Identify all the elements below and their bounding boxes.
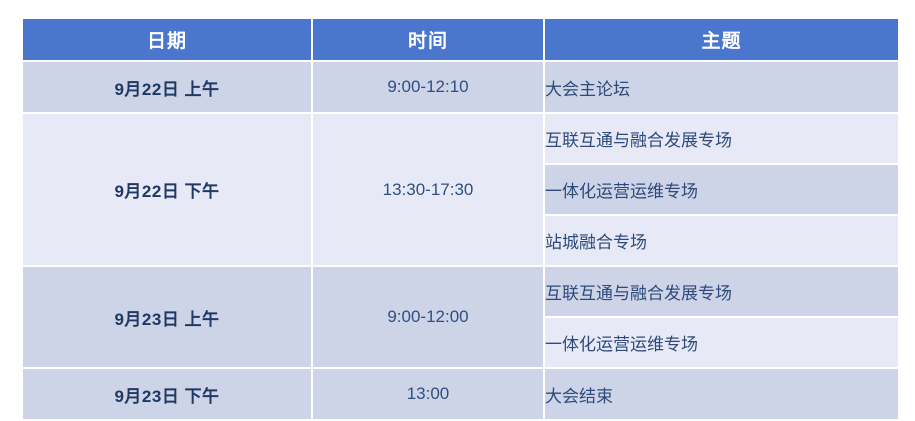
cell-date: 9月22日 上午 bbox=[23, 62, 311, 112]
cell-topic: 互联互通与融合发展专场 bbox=[545, 114, 898, 163]
cell-date: 9月22日 下午 bbox=[23, 114, 311, 265]
schedule-table: 日期 时间 主题 9月22日 上午9:00-12:10大会主论坛9月22日 下午… bbox=[21, 17, 900, 421]
conference-schedule: 日期 时间 主题 9月22日 上午9:00-12:10大会主论坛9月22日 下午… bbox=[21, 17, 896, 421]
header-row: 日期 时间 主题 bbox=[23, 19, 898, 60]
cell-topic: 大会主论坛 bbox=[545, 62, 898, 112]
table-row: 9月23日 下午13:00大会结束 bbox=[23, 369, 898, 419]
table-body: 9月22日 上午9:00-12:10大会主论坛9月22日 下午13:30-17:… bbox=[23, 62, 898, 419]
cell-topic: 一体化运营运维专场 bbox=[545, 165, 898, 214]
cell-date: 9月23日 下午 bbox=[23, 369, 311, 419]
cell-time: 13:00 bbox=[313, 369, 543, 419]
table-header: 日期 时间 主题 bbox=[23, 19, 898, 60]
table-row: 9月23日 上午9:00-12:00互联互通与融合发展专场 bbox=[23, 267, 898, 316]
column-header-topic: 主题 bbox=[545, 19, 898, 60]
cell-date: 9月23日 上午 bbox=[23, 267, 311, 367]
cell-topic: 大会结束 bbox=[545, 369, 898, 419]
column-header-date: 日期 bbox=[23, 19, 311, 60]
table-row: 9月22日 上午9:00-12:10大会主论坛 bbox=[23, 62, 898, 112]
cell-time: 9:00-12:00 bbox=[313, 267, 543, 367]
cell-topic: 一体化运营运维专场 bbox=[545, 318, 898, 367]
cell-time: 9:00-12:10 bbox=[313, 62, 543, 112]
cell-time: 13:30-17:30 bbox=[313, 114, 543, 265]
cell-topic: 互联互通与融合发展专场 bbox=[545, 267, 898, 316]
column-header-time: 时间 bbox=[313, 19, 543, 60]
cell-topic: 站城融合专场 bbox=[545, 216, 898, 265]
table-row: 9月22日 下午13:30-17:30互联互通与融合发展专场 bbox=[23, 114, 898, 163]
